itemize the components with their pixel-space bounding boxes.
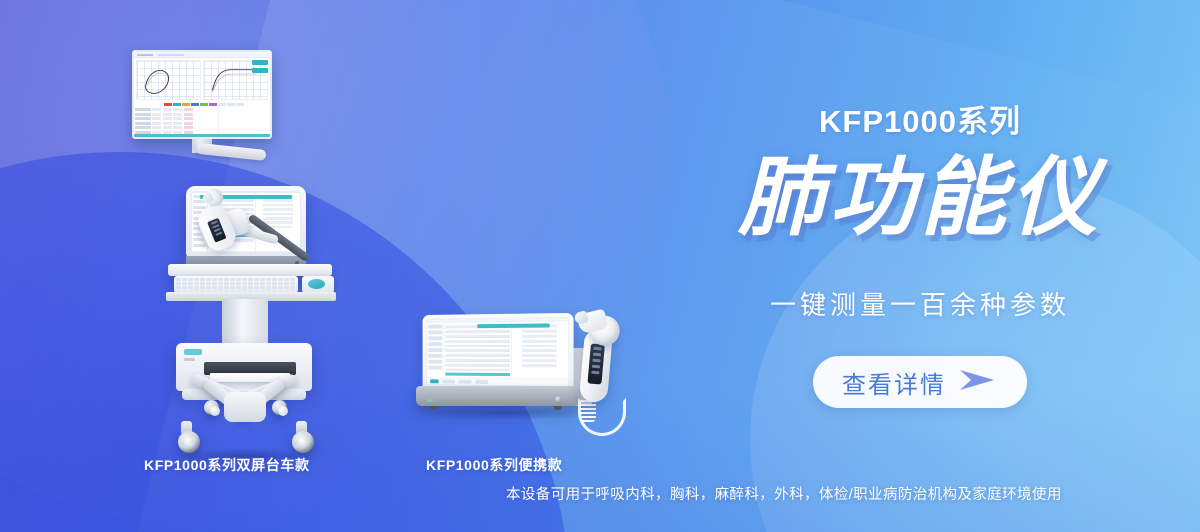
- product-tagline: 一键测量一百余种参数: [640, 285, 1200, 322]
- printer-label: [184, 358, 195, 361]
- keyboard-tray: [168, 264, 332, 276]
- cart-base-hub: [224, 392, 266, 422]
- view-details-button[interactable]: 查看详情: [813, 356, 1027, 408]
- touchscreen-footer-buttons: [192, 251, 300, 253]
- cart-mouse-pad: [302, 276, 334, 293]
- cart-caster-wheel: [204, 400, 219, 415]
- cart-keyboard: [174, 276, 298, 293]
- cart-column: [222, 299, 268, 349]
- portable-base-unit: [416, 386, 580, 406]
- portable-footer-buttons: [427, 378, 568, 386]
- cart-top-monitor: [132, 50, 272, 139]
- view-details-label: 查看详情: [842, 365, 946, 400]
- product-hero-banner: KFP1000系列双屏台车款 KFP1000系列便携款 KFP1000系列 肺功…: [0, 0, 1200, 532]
- handheld-display-panel: [587, 343, 604, 384]
- portable-sidebar: [427, 323, 443, 378]
- handheld-mouthpiece: [573, 308, 622, 346]
- portable-foot: [430, 406, 438, 410]
- portable-body: [427, 322, 568, 379]
- printer-brand-badge: [184, 349, 202, 355]
- hero-text-column: KFP1000系列 肺功能仪 一键测量一百余种参数 查看详情: [640, 0, 1200, 532]
- flow-volume-loop-chart: [136, 60, 201, 100]
- portable-touchscreen: [423, 313, 574, 391]
- portable-ground-shadow: [414, 406, 594, 420]
- monitor-charts-area: [134, 58, 270, 102]
- portable-detail-pane: [511, 322, 569, 379]
- portable-data-table: [443, 322, 510, 378]
- portable-handheld-spirometer: [568, 304, 630, 426]
- portable-display: [426, 317, 569, 387]
- page-title: 肺功能仪: [640, 152, 1200, 245]
- caption-cart-model: KFP1000系列双屏台车款: [144, 455, 310, 475]
- usage-disclaimer: 本设备可用于呼吸内科，胸科，麻醉科，外科，体检/职业病防治机构及家庭环境使用: [506, 483, 1062, 504]
- portable-active-tab: [477, 323, 549, 328]
- portable-foot: [554, 406, 562, 410]
- monitor-support-arm: [196, 143, 267, 161]
- sensor-display-panel: [207, 218, 226, 243]
- monitor-action-buttons: [252, 60, 268, 76]
- product-series-label: KFP1000系列: [640, 96, 1200, 141]
- monitor-status-bar: [134, 134, 270, 137]
- device-image-cart: [96, 40, 396, 460]
- device-image-portable: [408, 310, 648, 450]
- arrow-right-icon: [958, 367, 998, 398]
- cart-caster-wheel: [272, 400, 287, 415]
- caption-portable-model: KFP1000系列便携款: [426, 455, 562, 475]
